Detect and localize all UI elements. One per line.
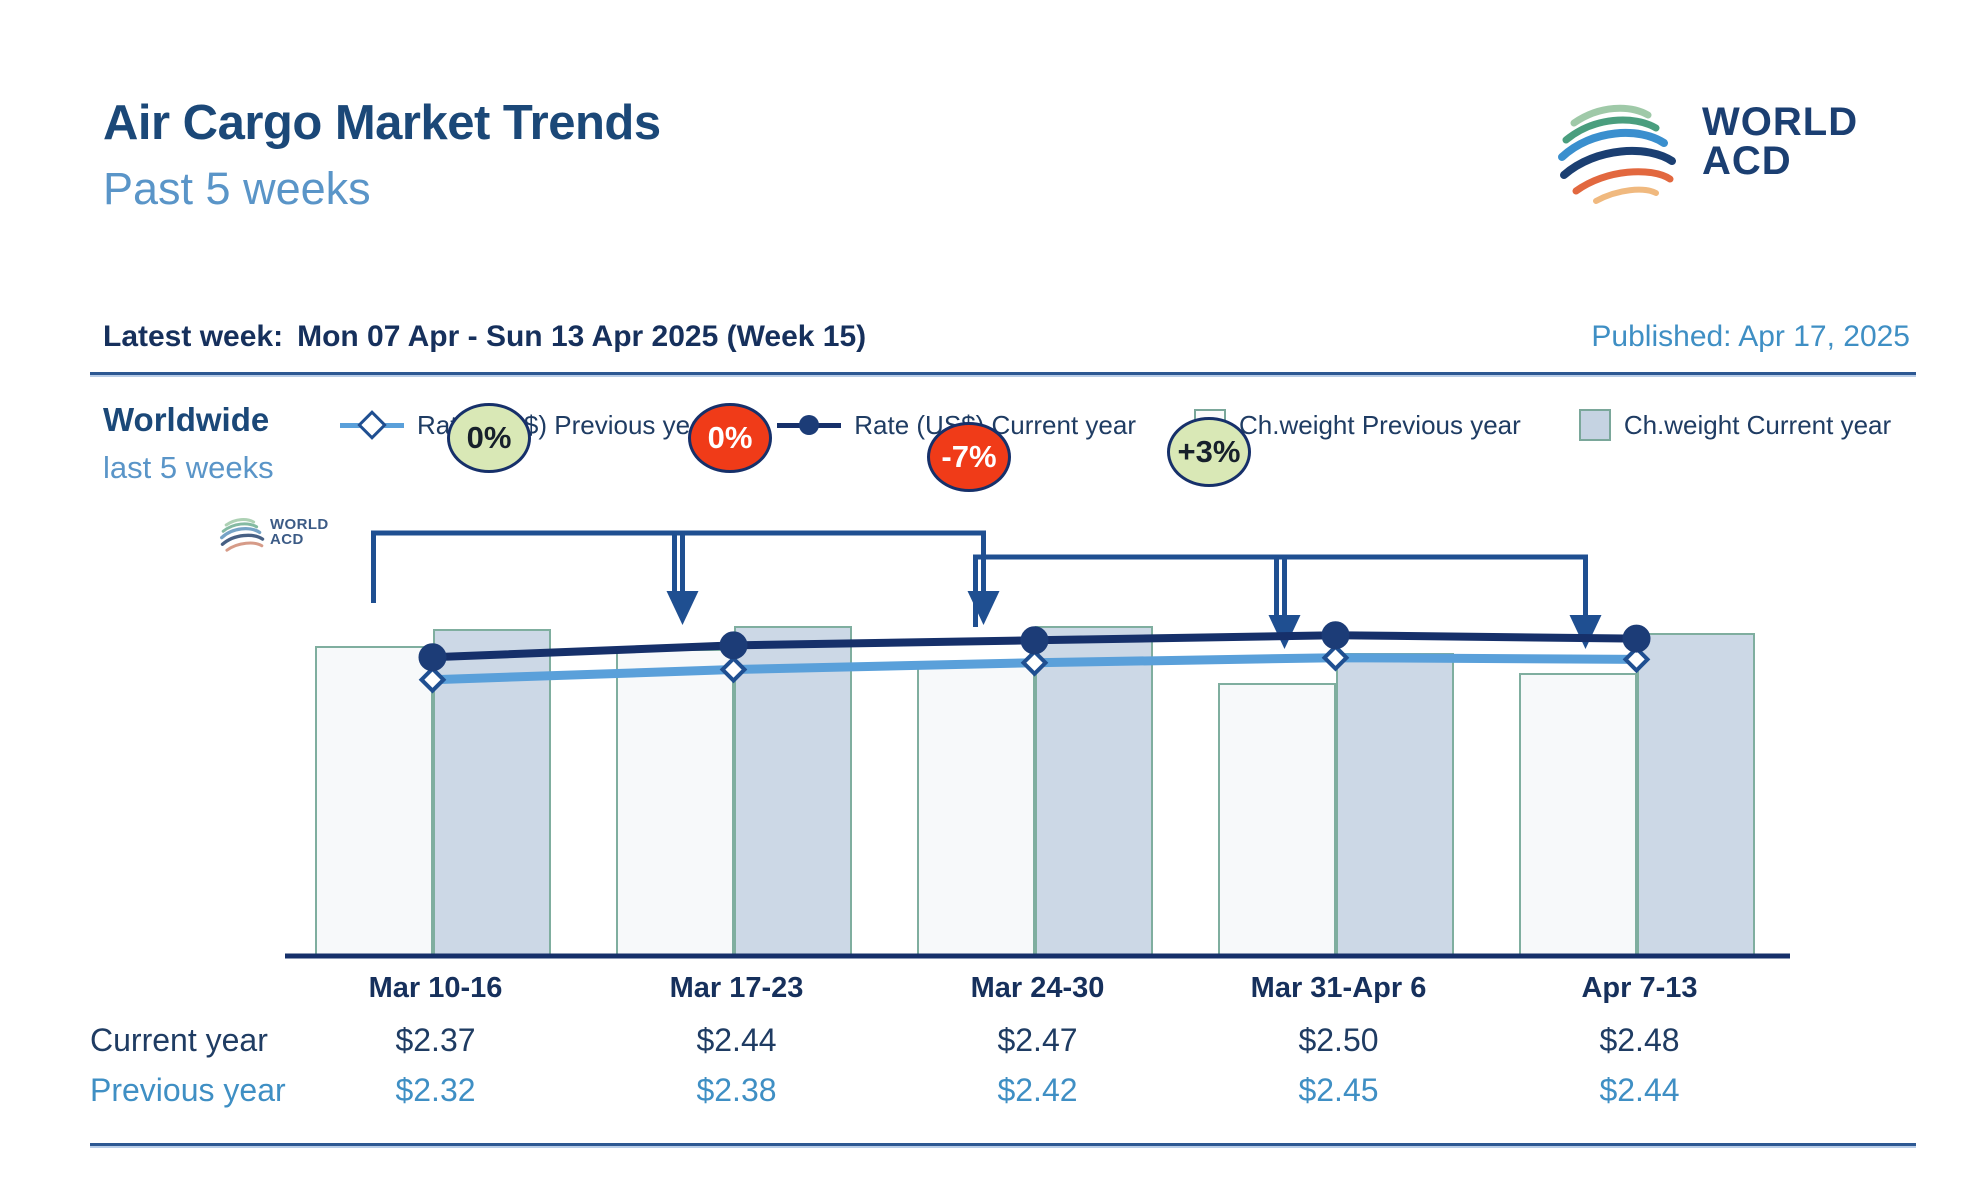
watermark-line2: ACD [270, 532, 329, 547]
cell-current-year-rate: $2.48 [1480, 1022, 1800, 1059]
percent-change-badge: +3% [1167, 417, 1251, 487]
x-axis-label: Mar 31-Apr 6 [1179, 972, 1499, 1005]
brand-logo-text: WORLD ACD [1702, 103, 1858, 181]
bar-previous-year [315, 646, 433, 956]
legend-label-weight-current: Ch.weight Current year [1624, 410, 1891, 441]
bar-current-year [433, 629, 551, 956]
change-bracket [976, 557, 1285, 627]
row-label-current-year: Current year [90, 1022, 268, 1059]
cell-previous-year-rate: $2.42 [878, 1072, 1198, 1109]
cell-current-year-rate: $2.44 [577, 1022, 897, 1059]
brand-logo-line1: WORLD [1702, 103, 1858, 142]
chart-legend: Rate (US$) Previous year Rate (US$) Curr… [340, 404, 1891, 446]
bar-current-year [1637, 633, 1755, 956]
percent-change-badge: 0% [447, 403, 531, 473]
watermark-globe-icon [218, 513, 270, 557]
cell-previous-year-rate: $2.38 [577, 1072, 897, 1109]
change-connectors [374, 533, 1602, 649]
change-arrow-icon [968, 591, 1000, 625]
watermark-text: WORLD ACD [270, 517, 329, 547]
latest-week-row: Latest week:Mon 07 Apr - Sun 13 Apr 2025… [103, 320, 866, 354]
x-axis-label: Mar 10-16 [276, 972, 596, 1005]
change-bracket [374, 533, 683, 603]
bar-previous-year [616, 649, 734, 956]
region-name: Worldwide [103, 401, 269, 439]
footer-divider [90, 1143, 1916, 1146]
row-label-previous-year: Previous year [90, 1072, 286, 1109]
percent-change-badge: -7% [927, 422, 1011, 492]
bar-previous-year [1218, 683, 1336, 956]
cell-previous-year-rate: $2.45 [1179, 1072, 1499, 1109]
swatch-current-icon [1579, 409, 1611, 441]
latest-week-label: Latest week: [103, 320, 283, 353]
brand-logo-line2: ACD [1702, 142, 1858, 181]
cell-current-year-rate: $2.37 [276, 1022, 596, 1059]
watermark-line1: WORLD [270, 517, 329, 532]
worldacd-logo: WORLD ACD [1552, 95, 1902, 205]
change-arrow-icon [1570, 615, 1602, 649]
line-circle-marker-icon [777, 415, 841, 435]
line-diamond-marker-icon [340, 415, 404, 435]
published-date: Published: Apr 17, 2025 [1591, 320, 1910, 354]
bar-current-year [1336, 653, 1454, 956]
rate-current-marker [1323, 622, 1349, 648]
change-arrow-icon [1269, 615, 1301, 649]
change-bracket [675, 533, 984, 603]
page-subtitle: Past 5 weeks [103, 163, 371, 215]
latest-week-value: Mon 07 Apr - Sun 13 Apr 2025 (Week 15) [297, 320, 866, 353]
bar-previous-year [917, 663, 1035, 956]
header-divider [90, 372, 1916, 375]
cell-previous-year-rate: $2.44 [1480, 1072, 1800, 1109]
percent-change-badge: 0% [688, 403, 772, 473]
change-arrow-icon [667, 591, 699, 625]
x-axis-label: Apr 7-13 [1480, 972, 1800, 1005]
change-bracket [1277, 557, 1586, 627]
x-axis-label: Mar 17-23 [577, 972, 897, 1005]
cell-current-year-rate: $2.47 [878, 1022, 1198, 1059]
bar-current-year [734, 626, 852, 956]
region-period: last 5 weeks [103, 450, 274, 486]
cell-current-year-rate: $2.50 [1179, 1022, 1499, 1059]
legend-item-weight-current[interactable]: Ch.weight Current year [1579, 409, 1891, 441]
legend-label-weight-previous: Ch.weight Previous year [1239, 410, 1521, 441]
worldacd-globe-icon [1552, 95, 1692, 205]
chart-watermark-logo: WORLD ACD [218, 513, 338, 561]
cell-previous-year-rate: $2.32 [276, 1072, 596, 1109]
bar-previous-year [1519, 673, 1637, 956]
x-axis-label: Mar 24-30 [878, 972, 1198, 1005]
page-title: Air Cargo Market Trends [103, 95, 661, 151]
bar-current-year [1035, 626, 1153, 956]
